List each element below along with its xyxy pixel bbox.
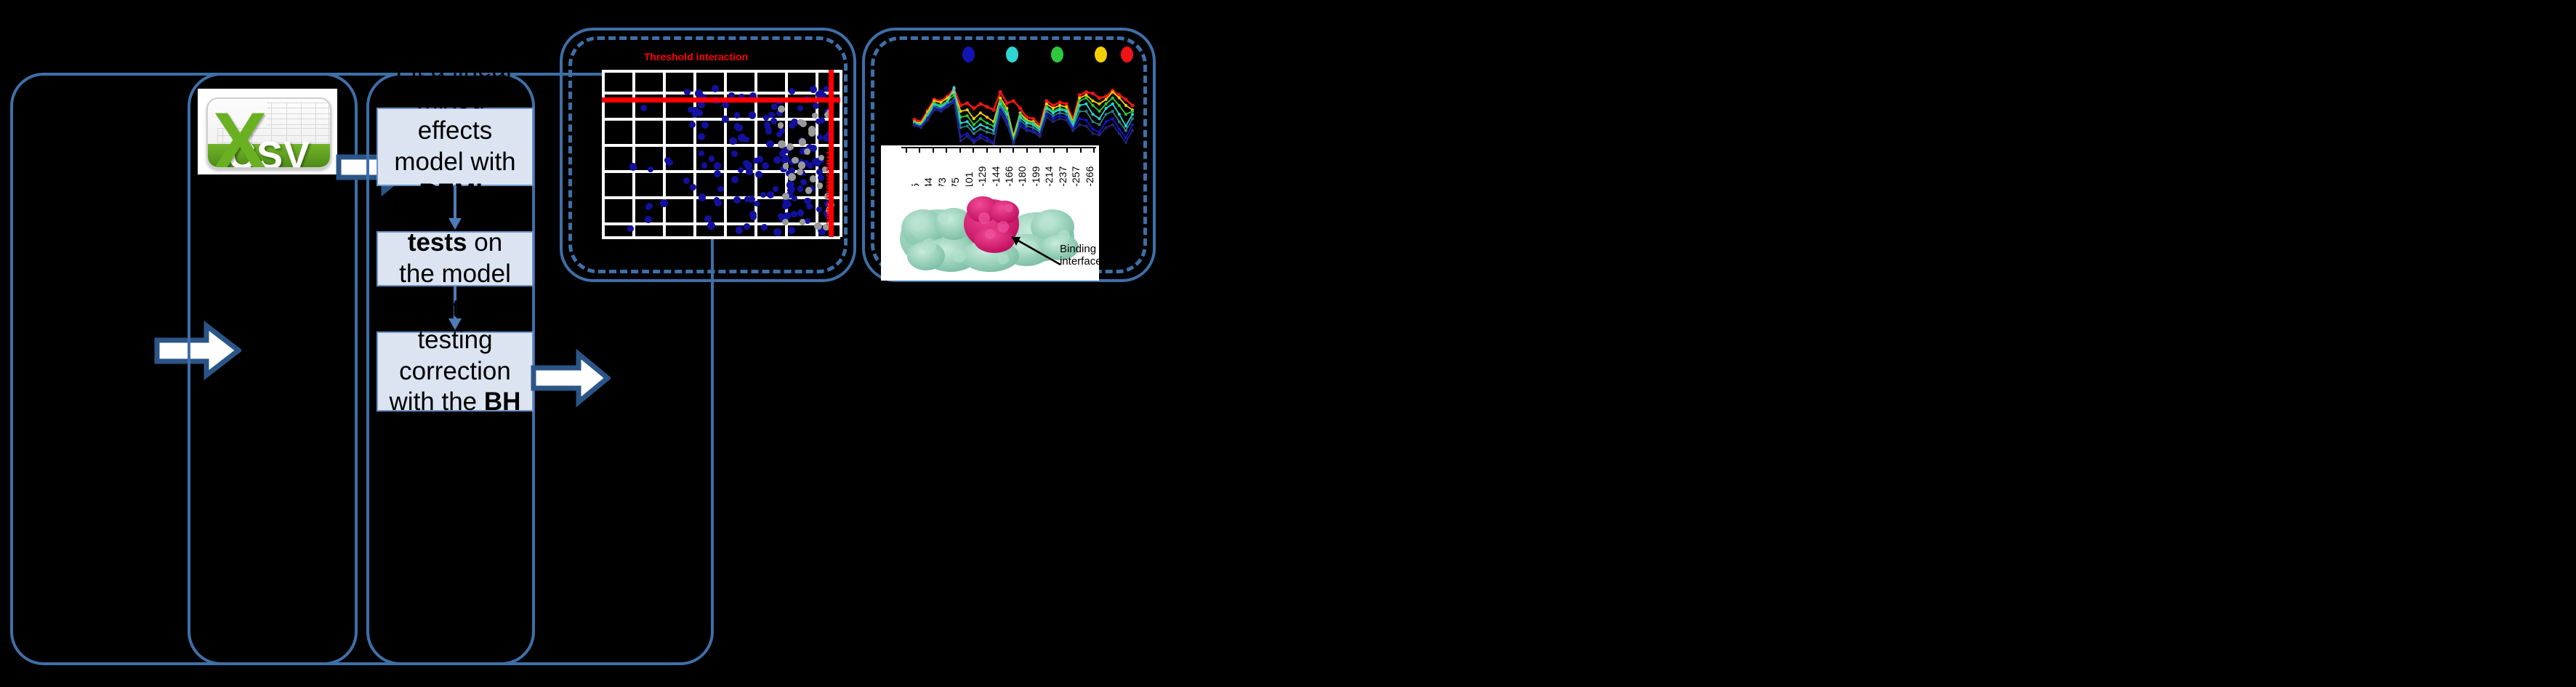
peptide-series-point	[979, 134, 982, 137]
peptide-series-point	[1084, 94, 1087, 97]
scatter-plot: Threshold interaction Threshold state	[602, 70, 840, 237]
peptide-series-point	[1130, 103, 1134, 107]
peptide-series-point	[1105, 126, 1108, 129]
threshold-interaction-line	[602, 97, 840, 103]
peptide-series-point	[1058, 114, 1061, 117]
peptide-series-point	[973, 141, 975, 144]
scatter-point	[699, 150, 704, 156]
peptide-series-point	[1092, 132, 1095, 135]
peptide-series-point	[1031, 117, 1035, 121]
scatter-gridline-v	[632, 70, 635, 237]
scatter-point	[749, 111, 756, 118]
peptide-series-point	[986, 140, 989, 142]
peptide-series-point	[1124, 113, 1127, 116]
peptide-series-point	[1131, 129, 1134, 132]
peptide-series-point	[1052, 107, 1055, 110]
peptide-series-point	[1131, 113, 1134, 116]
scatter-point-nonsignificant	[786, 143, 794, 150]
peptide-tick-mark	[1093, 147, 1095, 153]
peptide-legend-dot	[1121, 47, 1133, 63]
scatter-point-nonsignificant	[812, 113, 818, 118]
peptide-series-point	[1078, 97, 1081, 100]
scatter-point-nonsignificant	[797, 169, 803, 175]
peptide-series-point	[999, 105, 1002, 108]
peptide-series-point	[1032, 124, 1035, 126]
peptide-series-point	[1019, 121, 1022, 124]
peptide-series-point	[1065, 113, 1068, 116]
peptide-series-point	[966, 114, 969, 117]
peptide-series-point	[1078, 110, 1081, 113]
protein-structure-image: Binding interface	[881, 186, 1099, 281]
scatter-gridline-h	[602, 70, 840, 73]
scatter-point-nonsignificant	[805, 187, 812, 193]
peptide-series-point	[966, 125, 969, 128]
arrow-stage3-to-stage4	[531, 349, 611, 407]
peptide-series-point	[1039, 135, 1042, 138]
scatter-point	[691, 107, 699, 114]
scatter-point-nonsignificant	[778, 140, 786, 148]
peptide-series-point	[999, 97, 1002, 100]
scatter-point	[760, 192, 766, 198]
scatter-point	[729, 137, 737, 145]
scatter-point	[627, 225, 634, 232]
peptide-series-point	[1065, 110, 1068, 113]
peptide-series-point	[1084, 90, 1088, 94]
scatter-point	[773, 186, 778, 192]
scatter-point	[816, 206, 822, 212]
csv-icon-body: X CSV	[206, 97, 331, 169]
peptide-series-point	[1131, 110, 1134, 113]
scatter-point	[816, 118, 821, 124]
peptide-series-point	[926, 118, 929, 121]
scatter-point	[770, 118, 777, 124]
peptide-series-point	[1118, 104, 1121, 107]
peptide-series-point	[999, 90, 1002, 94]
peptide-series-point	[1058, 108, 1061, 111]
binding-interface-line2: interface	[1060, 255, 1099, 268]
scatter-point-nonsignificant	[817, 182, 823, 188]
peptide-series-point	[1045, 116, 1048, 118]
peptide-tick-mark	[946, 147, 947, 153]
peptide-series-point	[1005, 116, 1008, 118]
peptide-series-point	[999, 111, 1002, 114]
peptide-series-point	[1124, 97, 1127, 101]
peptide-legend-dot	[1051, 47, 1063, 63]
bh-box-text: Multiple testingcorrectionwith the BH pr…	[382, 294, 528, 449]
csv-x-letter: X	[213, 101, 267, 169]
peptide-series-point	[965, 101, 969, 105]
scatter-point	[755, 171, 762, 178]
peptide-series-point	[1078, 104, 1081, 107]
peptide-series-point	[1131, 124, 1134, 126]
peptide-series-point	[1026, 129, 1029, 132]
peptide-series-point	[1092, 113, 1095, 116]
peptide-series-point	[986, 131, 989, 134]
peptide-series-point	[1005, 101, 1009, 105]
peptide-series-point	[1045, 99, 1048, 103]
scatter-point-nonsignificant	[800, 219, 806, 225]
scatter-point	[645, 216, 652, 223]
peptide-series-point	[1092, 120, 1095, 123]
scatter-point-nonsignificant	[814, 222, 821, 230]
scatter-gridline-h	[602, 92, 840, 95]
scatter-point	[791, 211, 797, 217]
peptide-series-point	[978, 102, 982, 105]
peptide-series-point	[1019, 113, 1022, 116]
peptide-tick-mark	[919, 147, 920, 153]
peptide-series-point	[1098, 103, 1101, 105]
scatter-gridline-v	[602, 70, 605, 237]
peptide-series-point	[1045, 110, 1048, 113]
peptide-series-point	[1118, 97, 1121, 100]
peptide-series-point	[1032, 131, 1035, 134]
scatter-point	[704, 215, 712, 222]
scatter-point	[797, 105, 803, 111]
scatter-point	[805, 218, 810, 224]
scatter-point	[734, 112, 740, 118]
peptide-series-point	[1105, 103, 1108, 105]
scatter-point-nonsignificant	[799, 138, 806, 145]
peptide-series-point	[1111, 124, 1114, 126]
scatter-point	[788, 227, 795, 234]
scatter-point	[722, 116, 730, 124]
peptide-series-point	[1052, 120, 1055, 123]
scatter-point	[754, 201, 760, 206]
reml-box: Fit a linear mixed-effects model withREM…	[377, 108, 534, 186]
peptide-series-point	[1071, 129, 1074, 132]
scatter-point	[731, 176, 738, 183]
peptide-series-point	[1124, 125, 1127, 128]
scatter-gridline-v	[840, 70, 842, 237]
peptide-series-point	[1118, 128, 1121, 131]
peptide-series-point	[986, 116, 989, 118]
peptide-series-point	[1098, 96, 1101, 100]
scatter-point-nonsignificant	[810, 175, 817, 182]
peptide-series-point	[939, 110, 942, 113]
peptide-series-point	[1058, 117, 1061, 120]
scatter-point	[701, 121, 709, 129]
peptide-series-point	[953, 101, 956, 104]
peptide-series-point	[1005, 124, 1008, 126]
scatter-point	[800, 179, 807, 185]
peptide-line-plot	[877, 65, 1144, 145]
peptide-series-point	[946, 105, 949, 108]
peptide-series-point	[1012, 99, 1015, 103]
peptide-series-point	[1098, 117, 1101, 120]
peptide-series-point	[1098, 134, 1101, 137]
peptide-series-point	[1045, 113, 1048, 116]
scatter-point	[773, 228, 781, 236]
scatter-point	[707, 222, 715, 230]
peptide-tick-mark	[1053, 147, 1055, 153]
peptide-series-point	[1091, 92, 1095, 95]
scatter-point	[640, 105, 648, 112]
peptide-tick-mark	[1013, 147, 1014, 153]
peptide-series-point	[999, 100, 1002, 103]
peptide-series-point	[1098, 110, 1101, 113]
peptide-series-point	[973, 132, 975, 135]
scatter-point	[660, 199, 668, 207]
peptide-series-point	[1111, 91, 1114, 94]
scatter-point	[629, 163, 637, 170]
peptide-series-point	[1118, 132, 1121, 135]
peptide-series-point	[1032, 126, 1035, 129]
binding-interface-line1: Binding	[1060, 243, 1099, 255]
peptide-series-point	[913, 124, 916, 127]
peptide-series-point	[1065, 102, 1068, 105]
peptide-series-point	[959, 140, 962, 142]
peptide-series-point	[1111, 110, 1114, 113]
peptide-series-point	[1078, 100, 1081, 103]
scatter-point-nonsignificant	[798, 161, 806, 169]
peptide-tick-mark	[906, 147, 907, 153]
peptide-series-point	[1084, 97, 1087, 100]
peptide-series-point	[1084, 118, 1087, 121]
scatter-point	[698, 133, 705, 140]
peptide-series-point	[1084, 110, 1087, 113]
scatter-point	[733, 196, 740, 203]
peptide-series-point	[1078, 93, 1082, 97]
scatter-point	[786, 181, 794, 189]
peptide-series-point	[1052, 117, 1055, 120]
peptide-series-point	[1105, 113, 1108, 116]
scatter-point	[782, 202, 789, 209]
scatter-point	[768, 112, 775, 118]
peptide-series-point	[999, 108, 1002, 111]
peptide-legend-dot	[962, 47, 975, 63]
scatter-gridline-h	[602, 236, 840, 239]
peptide-series-point	[1092, 100, 1095, 103]
scatter-point-nonsignificant	[778, 105, 785, 113]
peptide-series-point	[1019, 125, 1022, 128]
peptide-series-point	[1118, 120, 1121, 123]
scatter-point	[701, 162, 708, 169]
scatter-point	[810, 86, 817, 93]
csv-file-icon: X CSV	[198, 89, 337, 174]
peptide-series-point	[979, 124, 982, 126]
peptide-series-point	[1111, 97, 1114, 100]
peptide-series-point	[986, 121, 989, 124]
peptide-series-point	[1111, 117, 1114, 120]
binding-interface-label: Binding interface	[1060, 243, 1099, 268]
scatter-point	[744, 137, 749, 142]
peptide-series-point	[1019, 116, 1022, 118]
peptide-series-point	[1105, 98, 1108, 101]
scatter-point	[714, 170, 721, 177]
scatter-point	[817, 134, 823, 140]
scatter-point	[645, 204, 651, 210]
peptide-series-point	[1092, 128, 1095, 131]
scatter-point-nonsignificant	[778, 122, 784, 128]
peptide-series-point	[919, 126, 922, 129]
peptide-series-point	[1058, 111, 1061, 114]
peptide-series-point	[1052, 114, 1055, 117]
peptide-series-point	[1065, 116, 1068, 118]
peptide-series-point	[979, 128, 982, 131]
peptide-series-point	[1084, 125, 1087, 128]
scatter-gridline-v	[724, 70, 727, 237]
scatter-point	[695, 89, 703, 97]
peptide-series-point	[966, 132, 969, 135]
peptide-series-point	[986, 137, 989, 140]
peptide-series-point	[973, 124, 975, 126]
peptide-series-point	[933, 108, 935, 111]
scatter-point	[714, 162, 720, 169]
peptide-series-point	[986, 126, 989, 129]
peptide-tick-mark	[973, 147, 974, 153]
peptide-series-point	[1065, 105, 1068, 108]
peptide-series-point	[1078, 124, 1081, 126]
peptide-series-point	[985, 105, 989, 108]
peptide-series-point	[979, 111, 982, 114]
peptide-tick-mark	[1026, 147, 1028, 153]
peptide-series-point	[1019, 118, 1022, 121]
scatter-point	[699, 193, 707, 201]
scatter-point	[690, 184, 696, 190]
peptide-series-point	[1124, 104, 1127, 107]
peptide-series-point	[972, 106, 975, 110]
peptide-legend-dot	[1006, 47, 1018, 63]
scatter-point	[773, 156, 781, 164]
peptide-series-point	[966, 108, 969, 111]
peptide-series-point	[953, 87, 956, 89]
scatter-point	[717, 186, 723, 192]
scatter-point	[709, 156, 715, 162]
peptide-tick-mark	[986, 147, 988, 153]
peptide-tick-mark	[933, 147, 934, 153]
peptide-series-point	[1118, 113, 1121, 116]
peptide-series-point	[1058, 100, 1061, 104]
scatter-point	[761, 224, 768, 230]
peptide-series-point	[1105, 107, 1108, 110]
peptide-series-point	[1124, 141, 1127, 144]
peptide-series-point	[1105, 120, 1108, 123]
peptide-series-point	[1018, 106, 1022, 110]
scatter-point	[736, 124, 743, 132]
peptide-series-point	[966, 120, 969, 123]
scatter-point	[771, 103, 778, 110]
peptide-series-point	[979, 137, 982, 140]
peptide-tick-mark	[1039, 147, 1041, 153]
peptide-series-point	[1045, 107, 1048, 110]
scatter-point	[664, 157, 671, 164]
scatter-point	[757, 156, 764, 163]
peptide-series-point	[1098, 124, 1101, 126]
peptide-series-point	[1065, 118, 1068, 121]
peptide-tick-mark	[1066, 147, 1068, 153]
peptide-series-point	[1026, 121, 1029, 124]
scatter-point	[797, 185, 803, 191]
scatter-point	[683, 177, 690, 184]
scatter-point	[714, 197, 720, 204]
scatter-point	[762, 162, 769, 169]
peptide-series-point	[1045, 103, 1048, 105]
peptide-series-point	[992, 108, 996, 112]
peptide-series-point	[999, 103, 1002, 105]
scatter-point	[712, 85, 719, 92]
scatter-point	[736, 226, 744, 234]
peptide-series-point	[1026, 125, 1029, 128]
scatter-point-nonsignificant	[788, 173, 796, 181]
scatter-point	[766, 140, 774, 148]
peptide-series-point	[973, 117, 975, 120]
peptide-tick-mark	[959, 147, 961, 153]
scatter-point	[744, 223, 750, 230]
scatter-point-nonsignificant	[792, 157, 799, 164]
peptide-legend-dot	[1095, 47, 1107, 63]
peptide-series-point	[1078, 117, 1081, 120]
peptide-series-point	[939, 101, 942, 104]
peptide-series-point	[1124, 137, 1127, 140]
scatter-point-nonsignificant	[783, 163, 789, 169]
peptide-tick-mark	[1080, 147, 1082, 153]
scatter-point-nonsignificant	[804, 148, 810, 155]
threshold-interaction-label: Threshold interaction	[644, 51, 748, 63]
scatter-point	[776, 132, 783, 138]
scatter-point	[731, 150, 738, 157]
wald-box: Apply Wald tests onthe model parameters	[377, 231, 534, 286]
peptide-series-point	[1058, 104, 1061, 107]
peptide-series-point	[1052, 111, 1055, 114]
peptide-series-point	[1111, 103, 1114, 105]
peptide-series-point	[1131, 117, 1134, 120]
peptide-tick-mark	[999, 147, 1001, 153]
peptide-series-point	[1124, 129, 1127, 132]
peptide-series-point	[966, 135, 969, 138]
peptide-series-point	[979, 117, 982, 120]
peptide-series-point	[973, 128, 975, 131]
peptide-y-tick-label: 0.0	[884, 134, 899, 146]
scatter-gridline-v	[663, 70, 666, 237]
peptide-series-point	[1092, 104, 1095, 107]
peptide-series-point	[1084, 103, 1087, 105]
scatter-point	[797, 209, 804, 216]
threshold-state-label: Threshold state	[824, 150, 836, 225]
bh-box: Multiple testingcorrectionwith the BH pr…	[377, 332, 534, 411]
